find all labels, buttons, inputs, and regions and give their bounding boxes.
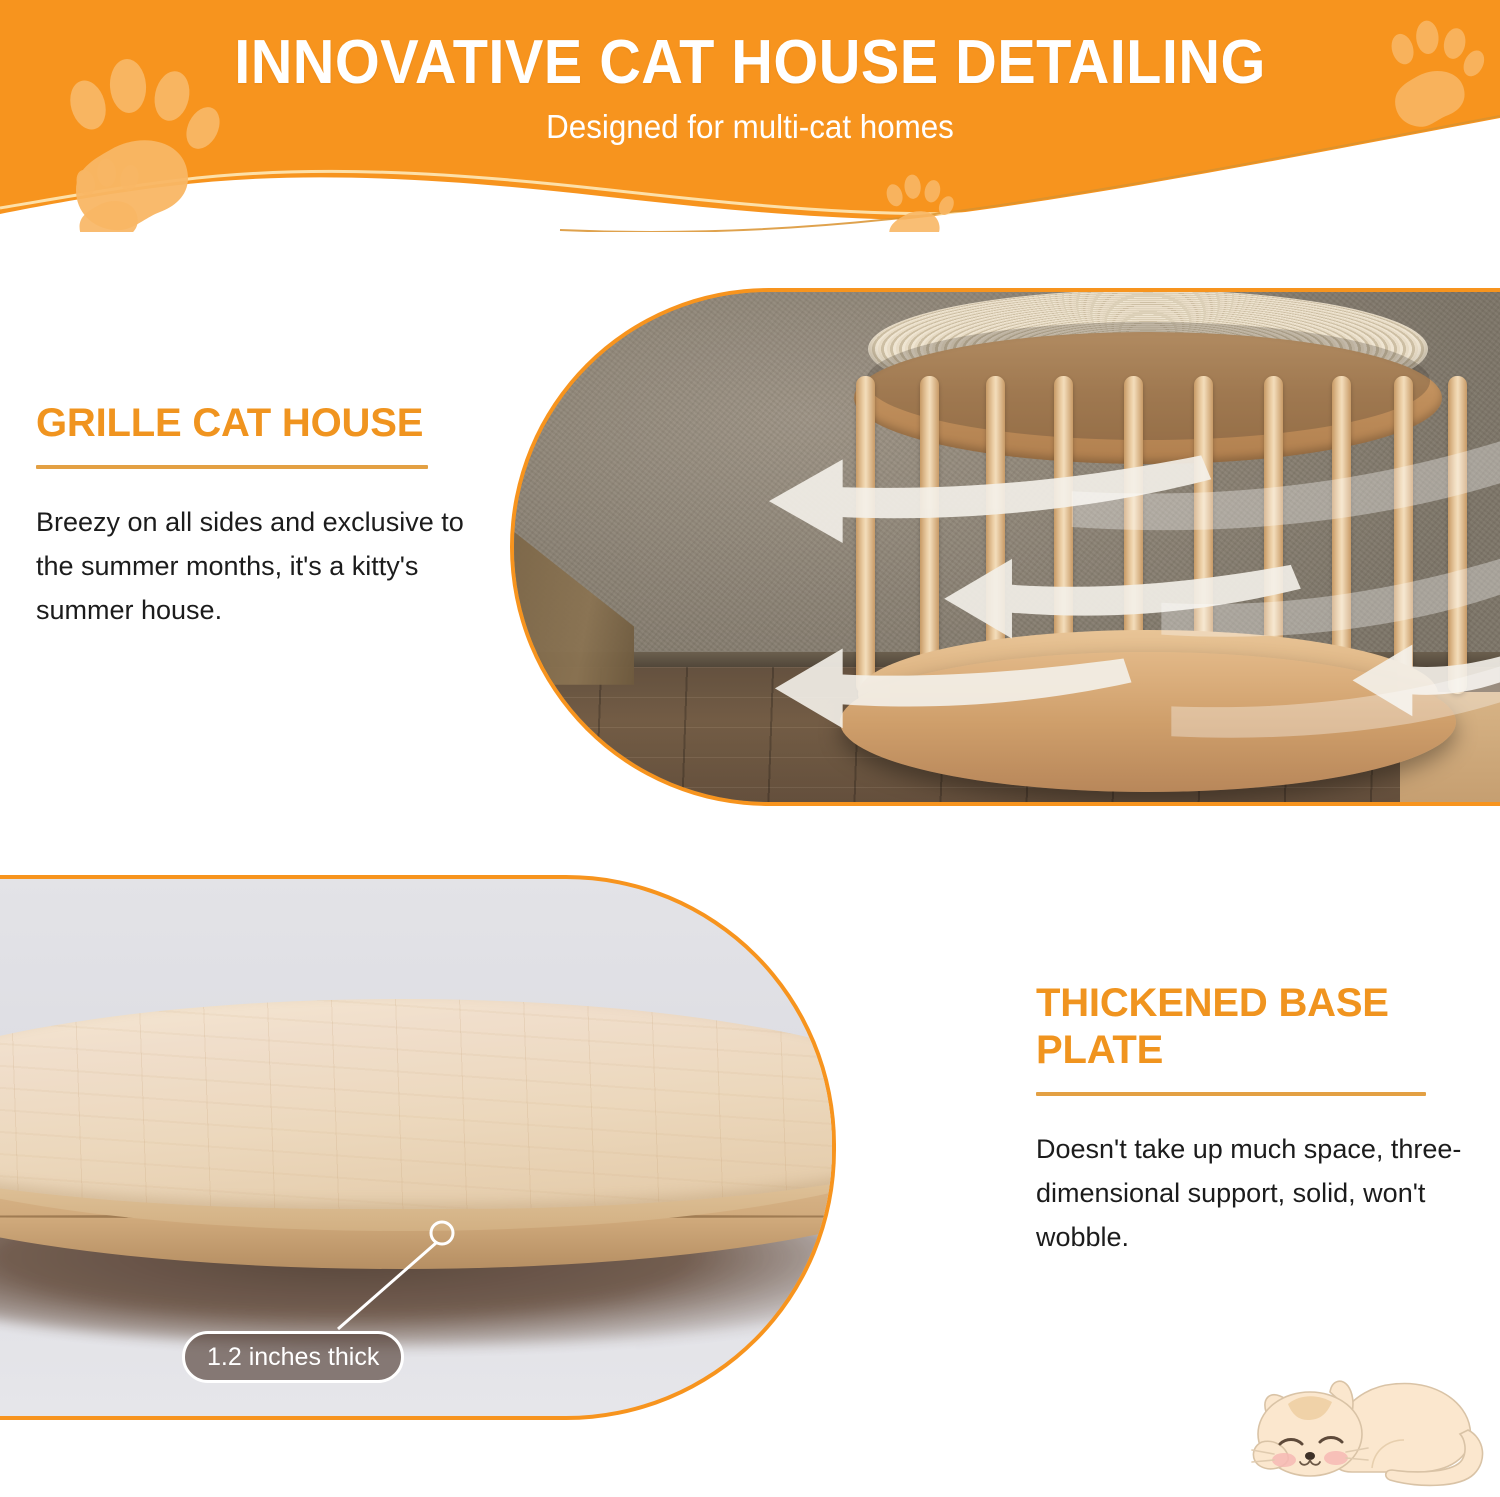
infographic-page: INNOVATIVE CAT HOUSE DETAILING Designed … <box>0 0 1500 1497</box>
callout-thickness-label: 1.2 inches thick <box>207 1343 379 1372</box>
callout-thickness-badge: 1.2 inches thick <box>182 1331 404 1383</box>
sleeping-cat-icon <box>1222 1368 1494 1492</box>
grille-photo-scene <box>514 292 1500 802</box>
dowel-bar <box>1394 376 1413 694</box>
feature-image-base-plate: 1.2 inches thick <box>0 875 836 1420</box>
header-banner: INNOVATIVE CAT HOUSE DETAILING Designed … <box>0 0 1500 232</box>
callout-leader-line <box>296 1217 476 1347</box>
cat-house-structure <box>832 288 1492 800</box>
dowel-bar <box>1448 376 1467 694</box>
feature-title-grille: GRILLE CAT HOUSE <box>36 400 496 447</box>
plate-top-surface <box>0 999 836 1209</box>
dowel-bar <box>856 376 875 694</box>
cat-nose <box>1305 1452 1315 1460</box>
callout-leader-stroke <box>338 1243 436 1329</box>
dowel-bar <box>920 376 939 694</box>
cat-cheek-right <box>1324 1451 1348 1465</box>
house-base-disc <box>840 652 1456 792</box>
header-background-shape <box>0 0 1500 232</box>
feature-body-base-plate: Doesn't take up much space, three-dimens… <box>1036 1096 1468 1259</box>
feature-body-grille: Breezy on all sides and exclusive to the… <box>36 469 496 632</box>
callout-anchor-circle <box>431 1222 453 1244</box>
feature-text-base-plate: THICKENED BASE PLATE Doesn't take up muc… <box>1036 980 1468 1260</box>
cat-cheek-left <box>1272 1453 1296 1467</box>
feature-text-grille: GRILLE CAT HOUSE Breezy on all sides and… <box>36 400 496 632</box>
feature-image-grille <box>510 288 1500 806</box>
feature-title-base-plate: THICKENED BASE PLATE <box>1036 980 1468 1074</box>
feature-section-grille: GRILLE CAT HOUSE Breezy on all sides and… <box>0 232 1500 842</box>
